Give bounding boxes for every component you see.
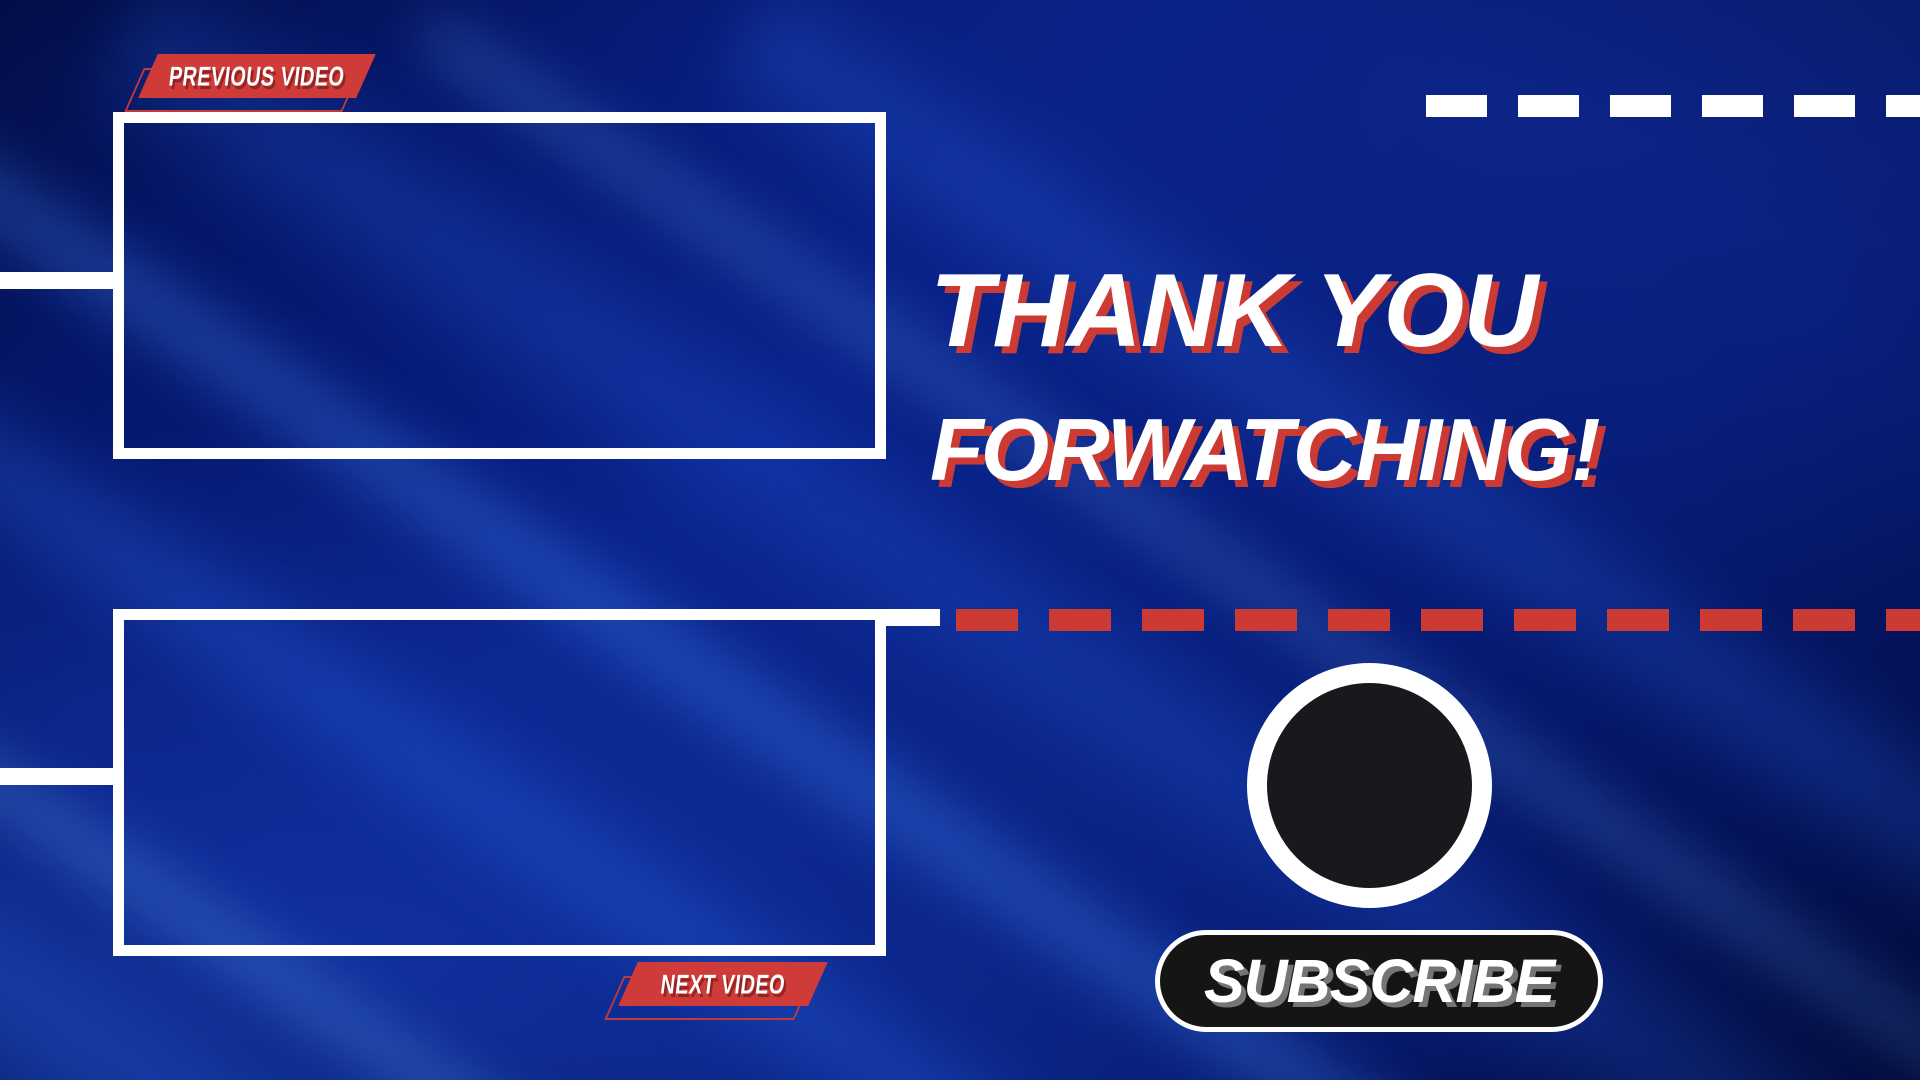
red-dashed-line bbox=[956, 609, 1920, 631]
subscribe-button-label: SUBSCRIBE bbox=[1204, 946, 1554, 1016]
dash-segment bbox=[1607, 609, 1669, 631]
next-video-thumbnail-slot[interactable] bbox=[113, 609, 886, 956]
dash-segment bbox=[1700, 609, 1762, 631]
previous-video-frame-tab bbox=[0, 272, 113, 289]
headline-exclamation: ! bbox=[1571, 400, 1599, 499]
headline-line-2: FORWATCHING! bbox=[930, 408, 1910, 492]
dash-segment bbox=[1702, 95, 1763, 117]
dash-segment bbox=[1049, 609, 1111, 631]
next-video-label: NEXT VIDEO bbox=[659, 968, 787, 1000]
dash-segment bbox=[1886, 95, 1920, 117]
headline-word-watching: WATCHING bbox=[1107, 400, 1572, 499]
dash-segment bbox=[1794, 95, 1855, 117]
headline: THANK YOU FORWATCHING! bbox=[930, 262, 1910, 492]
dash-segment bbox=[1235, 609, 1297, 631]
dash-segment bbox=[1518, 95, 1579, 117]
next-video-banner[interactable]: NEXT VIDEO bbox=[618, 962, 828, 1006]
dash-segment bbox=[1328, 609, 1390, 631]
dash-segment bbox=[1426, 95, 1487, 117]
end-screen-canvas: PREVIOUS VIDEO NEXT VIDEO THANK YOU FORW… bbox=[0, 0, 1920, 1080]
avatar-image-placeholder bbox=[1267, 683, 1472, 888]
headline-line-1: THANK YOU bbox=[930, 262, 1910, 362]
previous-video-banner[interactable]: PREVIOUS VIDEO bbox=[138, 54, 376, 98]
dash-segment bbox=[1142, 609, 1204, 631]
dash-segment bbox=[1886, 609, 1920, 631]
dash-segment bbox=[956, 609, 1018, 631]
dash-segment bbox=[1421, 609, 1483, 631]
headline-word-for: FOR bbox=[930, 400, 1107, 499]
white-dashed-line bbox=[1426, 95, 1920, 117]
next-video-frame-tab bbox=[0, 768, 113, 785]
dash-segment bbox=[1514, 609, 1576, 631]
channel-avatar-slot[interactable] bbox=[1247, 663, 1492, 908]
next-video-frame-stub bbox=[886, 609, 940, 626]
dash-segment bbox=[1793, 609, 1855, 631]
dash-segment bbox=[1610, 95, 1671, 117]
subscribe-button[interactable]: SUBSCRIBE bbox=[1155, 930, 1603, 1032]
previous-video-thumbnail-slot[interactable] bbox=[113, 112, 886, 459]
previous-video-label: PREVIOUS VIDEO bbox=[167, 60, 346, 92]
